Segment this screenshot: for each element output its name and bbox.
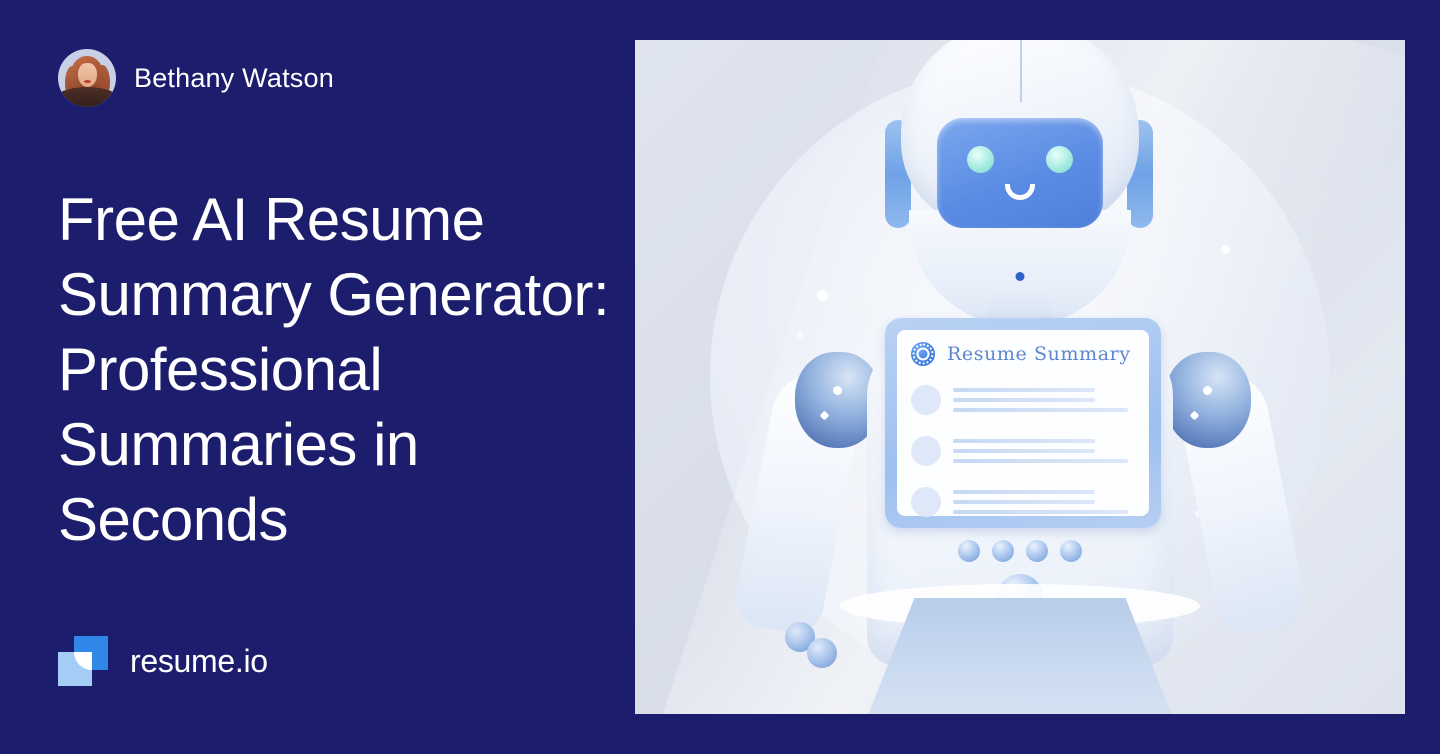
shoulder-highlight [1203,386,1212,395]
avatar [58,49,116,107]
row-line [953,459,1128,463]
robot-illustration: Resume Summary [635,40,1405,714]
robot-button-1-icon [958,540,980,562]
robot-chin-dot [1016,272,1025,281]
row-line [953,500,1095,504]
robot-arm-right [1177,358,1297,658]
row-lines [953,484,1135,520]
page-title: Free AI Resume Summary Generator: Profes… [58,182,628,557]
row-line [953,388,1095,392]
shoulder-highlight [820,411,830,421]
row-avatar-circle-icon [911,436,941,466]
robot-button-4-icon [1060,540,1082,562]
list-item [911,382,1135,418]
robot-eye-left-icon [967,146,994,173]
screen-title: Resume Summary [947,343,1131,365]
shoulder-highlight [833,386,842,395]
robot-shoulder-right [1165,352,1251,448]
row-line [953,398,1095,402]
robot-face-icon [937,118,1103,228]
shoulder-highlight [1190,411,1200,421]
resume-io-logo-icon [58,636,108,686]
robot-hand [807,638,837,668]
row-lines [953,382,1135,418]
robot-smile-icon [1005,184,1035,200]
avatar-shoulders [58,87,116,107]
robot-chest-screen: Resume Summary [885,318,1161,528]
row-line [953,439,1095,443]
row-line [953,490,1095,494]
row-line [953,510,1128,514]
row-avatar-circle-icon [911,385,941,415]
cover-canvas: Bethany Watson Free AI Resume Summary Ge… [0,0,1440,754]
avatar-face [78,63,97,87]
author-byline: Bethany Watson [58,49,334,107]
resume-gear-icon [911,342,935,366]
screen-rows [911,382,1135,535]
robot-eye-right-icon [1046,146,1073,173]
left-content-column: Bethany Watson Free AI Resume Summary Ge… [0,0,635,754]
robot-button-3-icon [1026,540,1048,562]
row-line [953,449,1095,453]
row-lines [953,433,1135,469]
screen-header: Resume Summary [911,342,1131,366]
row-avatar-circle-icon [911,487,941,517]
hero-illustration-panel: Resume Summary [635,40,1405,714]
avatar-lips [84,80,91,83]
brand-name: resume.io [130,643,268,680]
list-item [911,433,1135,469]
robot-arm-left [743,358,863,658]
author-name: Bethany Watson [134,63,334,94]
brand-lockup[interactable]: resume.io [58,636,268,686]
robot-button-row [958,540,1082,562]
list-item [911,484,1135,520]
row-line [953,408,1128,412]
screen-surface: Resume Summary [897,330,1149,516]
robot-button-2-icon [992,540,1014,562]
